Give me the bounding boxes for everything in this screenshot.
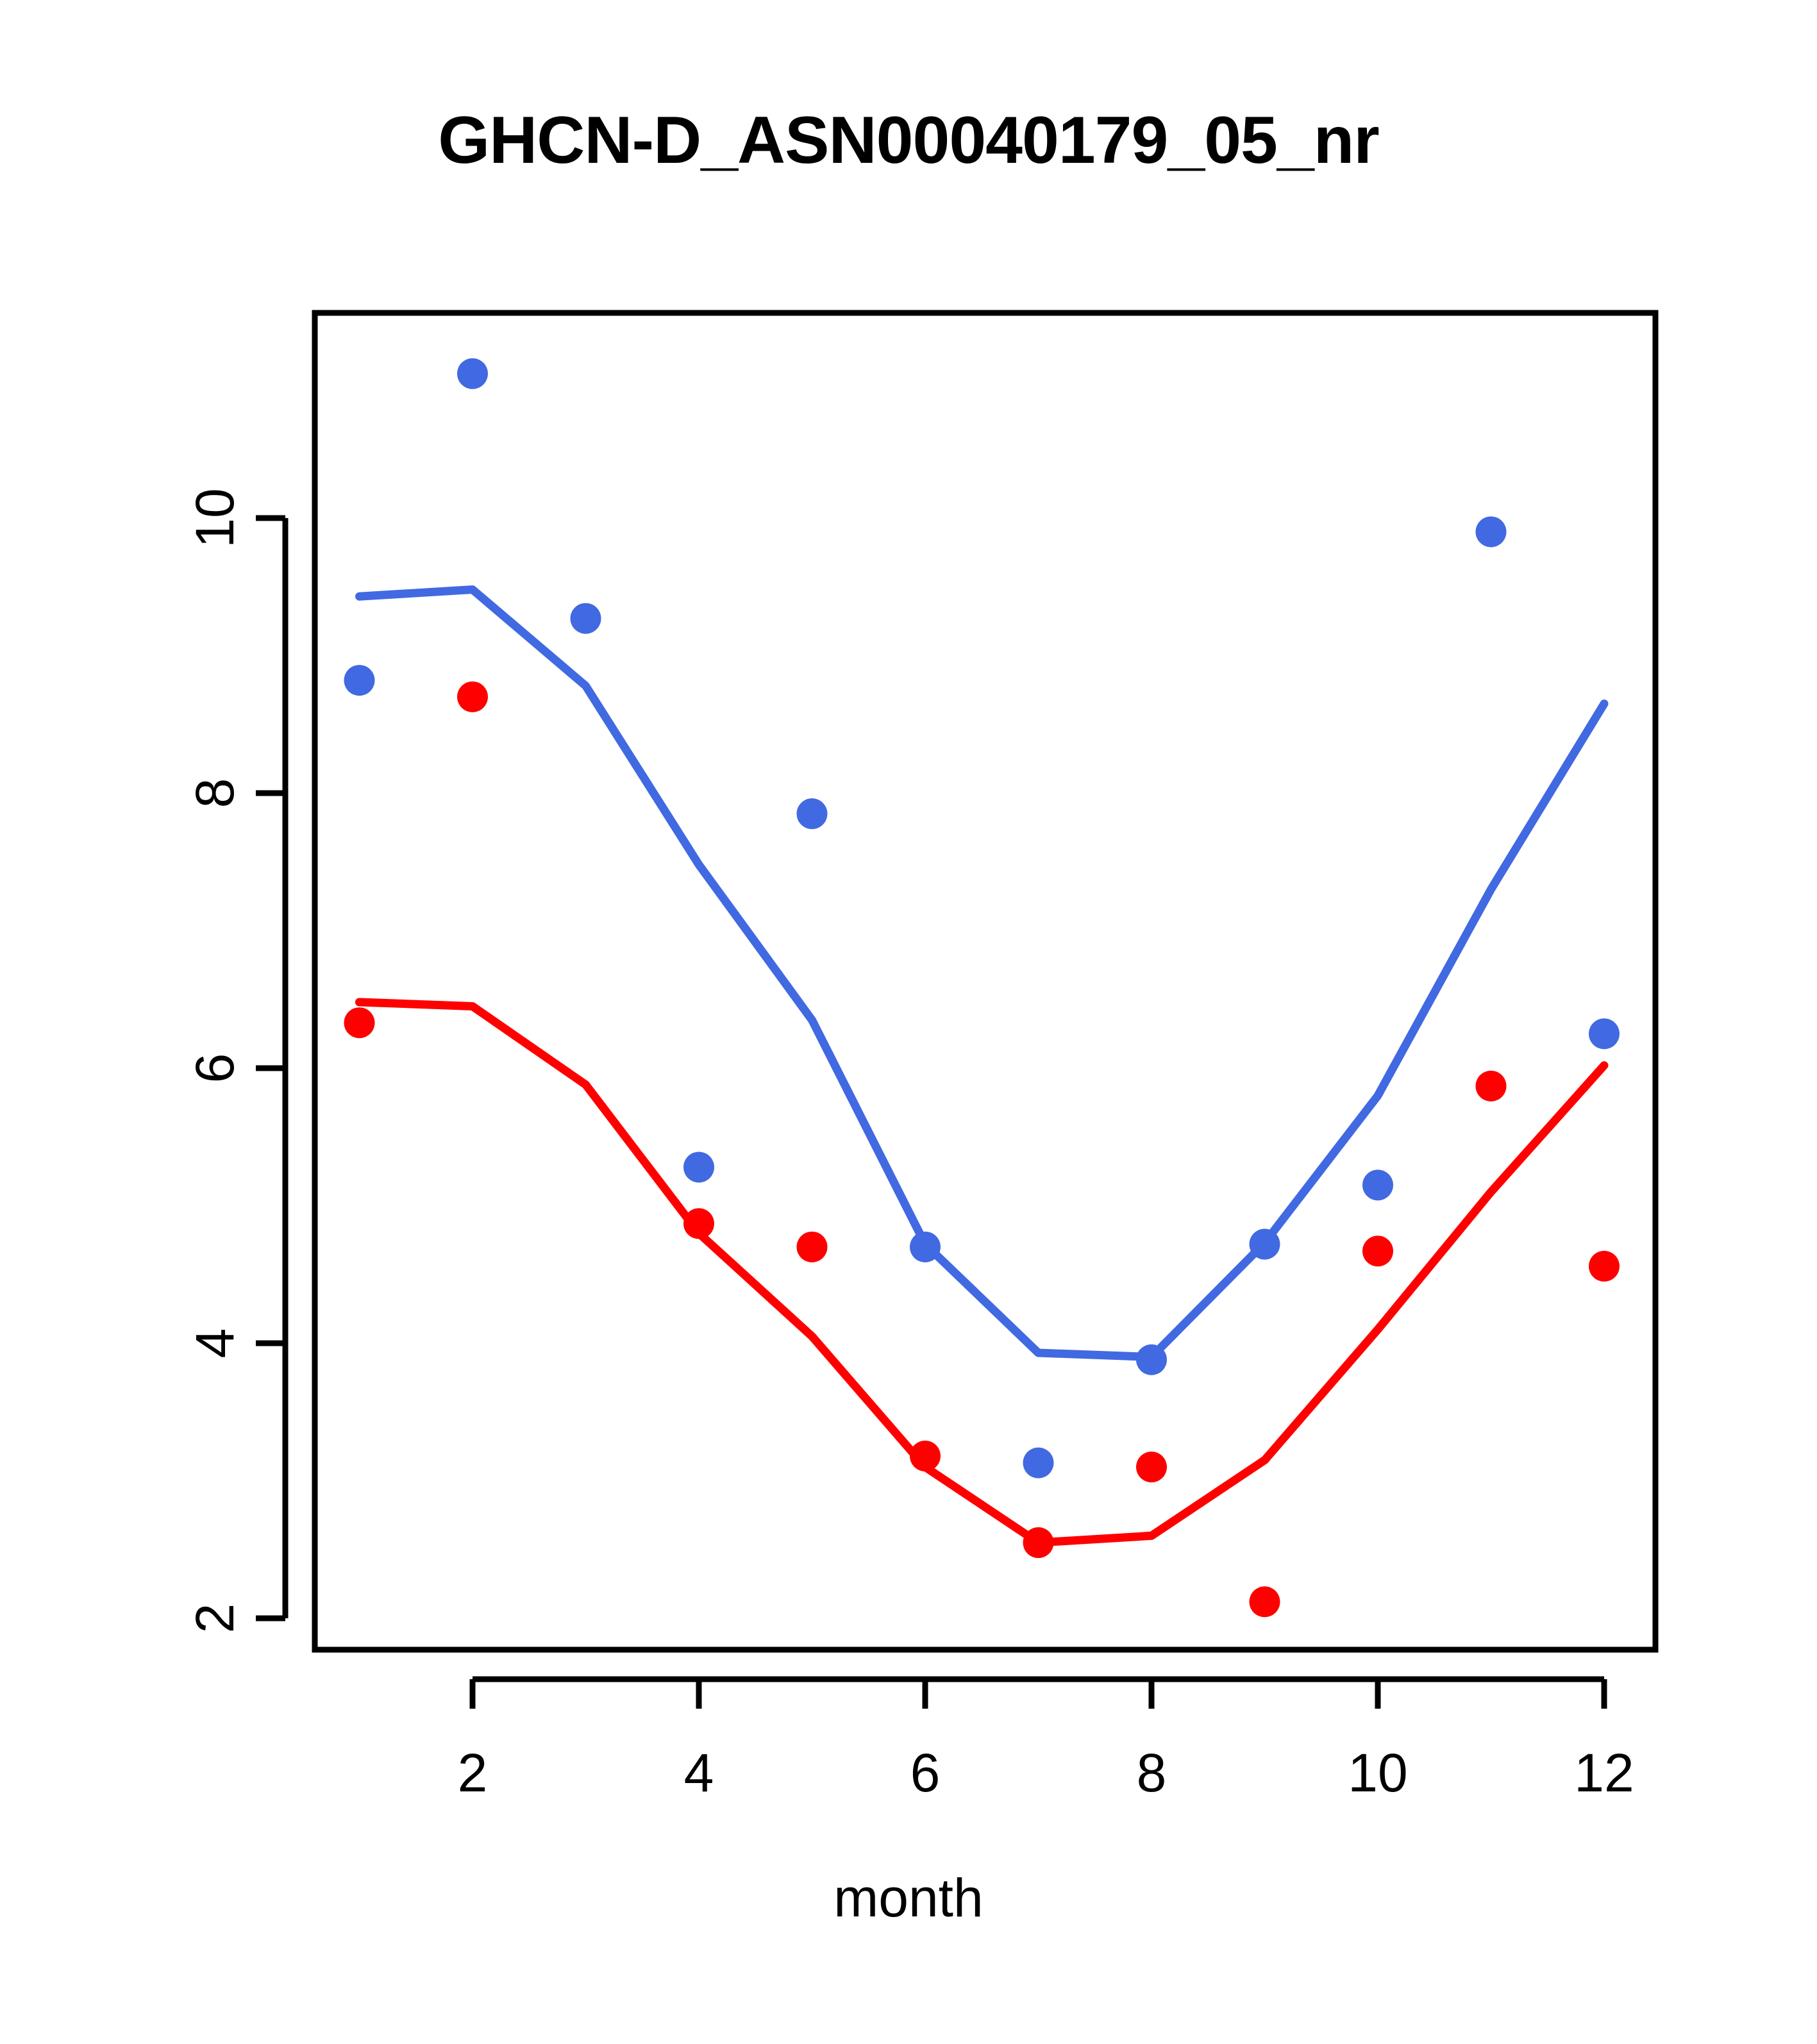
x-tick-label: 10 xyxy=(1348,1743,1407,1803)
data-point xyxy=(344,1007,375,1038)
data-point xyxy=(683,1152,714,1182)
plot-border xyxy=(315,313,1655,1650)
data-point xyxy=(1136,1345,1167,1375)
data-point xyxy=(1589,1251,1620,1282)
y-tick-label: 2 xyxy=(185,1604,245,1634)
data-point xyxy=(571,603,601,634)
x-tick-label: 8 xyxy=(1137,1743,1167,1803)
figure-canvas: GHCN-D_ASN00040179_05_nr 24681024681012 … xyxy=(0,0,1817,2044)
data-point xyxy=(1250,1229,1280,1260)
data-point xyxy=(1023,1448,1054,1479)
series-layer xyxy=(344,358,1620,1617)
x-tick-label: 4 xyxy=(684,1743,714,1803)
x-tick-label: 6 xyxy=(910,1743,941,1803)
x-tick-label: 12 xyxy=(1574,1743,1634,1803)
data-point xyxy=(457,682,488,712)
data-point xyxy=(1362,1236,1393,1266)
data-point xyxy=(1476,1071,1507,1102)
data-point xyxy=(797,1232,828,1262)
y-tick-label: 8 xyxy=(185,778,245,808)
y-tick-label: 10 xyxy=(185,488,245,548)
y-tick-label: 4 xyxy=(185,1328,245,1359)
data-point xyxy=(1023,1527,1054,1558)
plot-area: 24681024681012 xyxy=(0,0,1817,2044)
data-point xyxy=(344,665,375,696)
data-point xyxy=(910,1232,941,1262)
x-axis-label: month xyxy=(0,1867,1817,1929)
blue-line xyxy=(360,590,1605,1357)
data-point xyxy=(457,358,488,389)
data-point xyxy=(1250,1586,1280,1617)
data-point xyxy=(1362,1169,1393,1200)
x-tick-label: 2 xyxy=(458,1743,488,1803)
data-point xyxy=(910,1441,941,1471)
data-point xyxy=(683,1208,714,1239)
data-point xyxy=(797,798,828,829)
data-point xyxy=(1476,516,1507,547)
red-line xyxy=(360,1002,1605,1543)
data-point xyxy=(1136,1452,1167,1482)
y-tick-label: 6 xyxy=(185,1053,245,1084)
data-point xyxy=(1589,1018,1620,1049)
